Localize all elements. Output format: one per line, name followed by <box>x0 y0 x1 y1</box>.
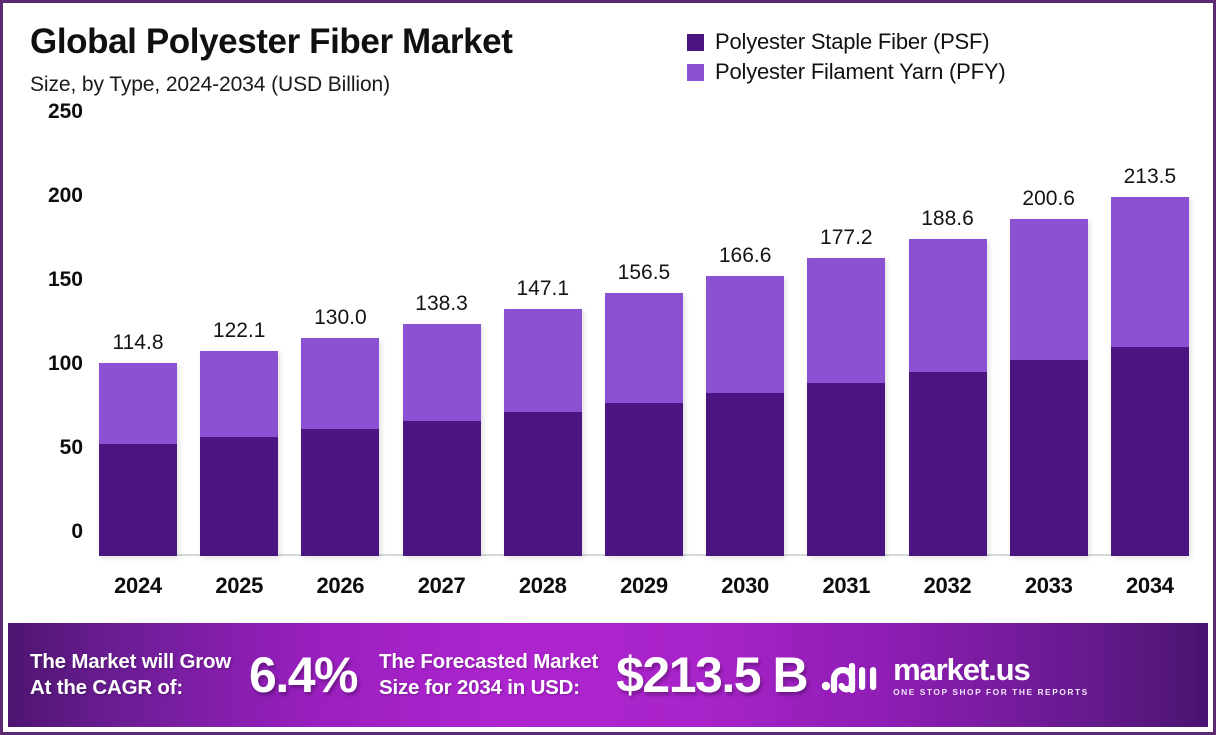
chart-plot-area: 050100150200250 114.8122.1130.0138.3147.… <box>3 123 1213 617</box>
bar-column-2026[interactable]: 130.0 <box>301 136 379 556</box>
market-us-logo[interactable]: market.us ONE STOP SHOP FOR THE REPORTS <box>821 654 1089 697</box>
x-axis-labels: 2024202520262027202820292030203120322033… <box>99 569 1189 603</box>
bar-stack-2029[interactable] <box>605 293 683 556</box>
bar-column-2033[interactable]: 200.6 <box>1010 136 1088 556</box>
bar-value-label-2029: 156.5 <box>618 261 671 285</box>
bar-column-2025[interactable]: 122.1 <box>200 136 278 556</box>
bar-group: 114.8122.1130.0138.3147.1156.5166.6177.2… <box>99 136 1189 556</box>
bar-column-2028[interactable]: 147.1 <box>504 136 582 556</box>
bar-value-label-2032: 188.6 <box>921 207 974 231</box>
cagr-value: 6.4% <box>249 649 357 701</box>
bar-column-2030[interactable]: 166.6 <box>706 136 784 556</box>
bar-stack-2033[interactable] <box>1010 219 1088 556</box>
bar-value-label-2025: 122.1 <box>213 319 266 343</box>
x-axis-label-2028: 2028 <box>504 573 582 599</box>
bar-stack-2028[interactable] <box>504 309 582 556</box>
bar-segment-pfy-2032[interactable] <box>909 239 987 371</box>
y-axis-tick-0: 0 <box>19 520 83 544</box>
x-axis-label-2032: 2032 <box>909 573 987 599</box>
cagr-caption-line1: The Market will Grow <box>30 649 231 675</box>
legend-swatch-pfy <box>687 64 704 81</box>
cagr-caption: The Market will Grow At the CAGR of: <box>30 649 231 701</box>
bar-value-label-2027: 138.3 <box>415 292 468 316</box>
bar-value-label-2030: 166.6 <box>719 244 772 268</box>
infographic-card: Global Polyester Fiber Market Size, by T… <box>0 0 1216 735</box>
chart-header: Global Polyester Fiber Market Size, by T… <box>3 3 1213 123</box>
bar-segment-pfy-2025[interactable] <box>200 351 278 437</box>
bar-stack-2031[interactable] <box>807 258 885 556</box>
chart-legend: Polyester Staple Fiber (PSF) Polyester F… <box>687 27 1005 87</box>
bar-segment-pfy-2024[interactable] <box>99 363 177 444</box>
bar-stack-2030[interactable] <box>706 276 784 556</box>
bar-value-label-2028: 147.1 <box>516 277 569 301</box>
y-axis-tick-200: 200 <box>19 184 83 208</box>
bar-segment-pfy-2027[interactable] <box>403 324 481 421</box>
summary-banner: The Market will Grow At the CAGR of: 6.4… <box>8 623 1208 727</box>
bar-stack-2026[interactable] <box>301 338 379 556</box>
legend-label-psf: Polyester Staple Fiber (PSF) <box>715 29 989 55</box>
bar-value-label-2034: 213.5 <box>1124 165 1177 189</box>
y-axis-tick-50: 50 <box>19 436 83 460</box>
logo-text: market.us ONE STOP SHOP FOR THE REPORTS <box>893 654 1089 697</box>
bar-segment-psf-2026[interactable] <box>301 429 379 556</box>
forecast-caption: The Forecasted Market Size for 2034 in U… <box>379 649 598 701</box>
bar-value-label-2031: 177.2 <box>820 226 873 250</box>
bar-segment-psf-2027[interactable] <box>403 421 481 556</box>
x-axis-label-2034: 2034 <box>1111 573 1189 599</box>
legend-item-psf[interactable]: Polyester Staple Fiber (PSF) <box>687 27 1005 57</box>
bar-column-2031[interactable]: 177.2 <box>807 136 885 556</box>
logo-tagline: ONE STOP SHOP FOR THE REPORTS <box>893 687 1089 697</box>
bar-segment-pfy-2026[interactable] <box>301 338 379 429</box>
bar-value-label-2033: 200.6 <box>1022 187 1075 211</box>
bar-segment-psf-2031[interactable] <box>807 383 885 556</box>
bar-segment-pfy-2031[interactable] <box>807 258 885 382</box>
x-axis-label-2029: 2029 <box>605 573 683 599</box>
bar-value-label-2026: 130.0 <box>314 306 367 330</box>
bar-segment-pfy-2028[interactable] <box>504 309 582 412</box>
bar-segment-psf-2033[interactable] <box>1010 360 1088 556</box>
x-axis-label-2030: 2030 <box>706 573 784 599</box>
y-axis-tick-100: 100 <box>19 352 83 376</box>
bar-value-label-2024: 114.8 <box>113 331 164 355</box>
x-axis-label-2033: 2033 <box>1010 573 1088 599</box>
bar-column-2027[interactable]: 138.3 <box>403 136 481 556</box>
cagr-caption-line2: At the CAGR of: <box>30 675 231 701</box>
bar-column-2032[interactable]: 188.6 <box>909 136 987 556</box>
bar-segment-psf-2030[interactable] <box>706 393 784 556</box>
legend-label-pfy: Polyester Filament Yarn (PFY) <box>715 59 1005 85</box>
bar-column-2029[interactable]: 156.5 <box>605 136 683 556</box>
bar-stack-2034[interactable] <box>1111 197 1189 556</box>
forecast-caption-line1: The Forecasted Market <box>379 649 598 675</box>
bar-segment-pfy-2029[interactable] <box>605 293 683 403</box>
y-axis-tick-250: 250 <box>19 100 83 124</box>
x-axis-label-2027: 2027 <box>403 573 481 599</box>
logo-wordmark: market.us <box>893 654 1089 685</box>
x-axis-label-2026: 2026 <box>301 573 379 599</box>
market-us-logo-icon <box>821 654 883 696</box>
x-axis-label-2031: 2031 <box>807 573 885 599</box>
x-axis-label-2025: 2025 <box>200 573 278 599</box>
bar-segment-psf-2028[interactable] <box>504 412 582 556</box>
bar-segment-pfy-2033[interactable] <box>1010 219 1088 360</box>
bar-segment-psf-2034[interactable] <box>1111 347 1189 556</box>
bar-segment-pfy-2030[interactable] <box>706 276 784 393</box>
bar-stack-2027[interactable] <box>403 324 481 556</box>
bar-column-2034[interactable]: 213.5 <box>1111 136 1189 556</box>
bar-stack-2024[interactable] <box>99 363 177 556</box>
bar-segment-psf-2024[interactable] <box>99 444 177 556</box>
bar-stack-2025[interactable] <box>200 351 278 556</box>
forecast-value: $213.5 B <box>616 649 807 701</box>
chart-subtitle: Size, by Type, 2024-2034 (USD Billion) <box>30 73 512 97</box>
bar-segment-pfy-2034[interactable] <box>1111 197 1189 347</box>
bar-column-2024[interactable]: 114.8 <box>99 136 177 556</box>
bar-stack-2032[interactable] <box>909 239 987 556</box>
bar-segment-psf-2025[interactable] <box>200 437 278 556</box>
title-block: Global Polyester Fiber Market Size, by T… <box>30 21 512 97</box>
legend-item-pfy[interactable]: Polyester Filament Yarn (PFY) <box>687 57 1005 87</box>
bar-segment-psf-2029[interactable] <box>605 403 683 556</box>
page-title: Global Polyester Fiber Market <box>30 21 512 63</box>
bar-segment-psf-2032[interactable] <box>909 372 987 556</box>
x-axis-label-2024: 2024 <box>99 573 177 599</box>
y-axis-tick-150: 150 <box>19 268 83 292</box>
legend-swatch-psf <box>687 34 704 51</box>
forecast-caption-line2: Size for 2034 in USD: <box>379 675 598 701</box>
